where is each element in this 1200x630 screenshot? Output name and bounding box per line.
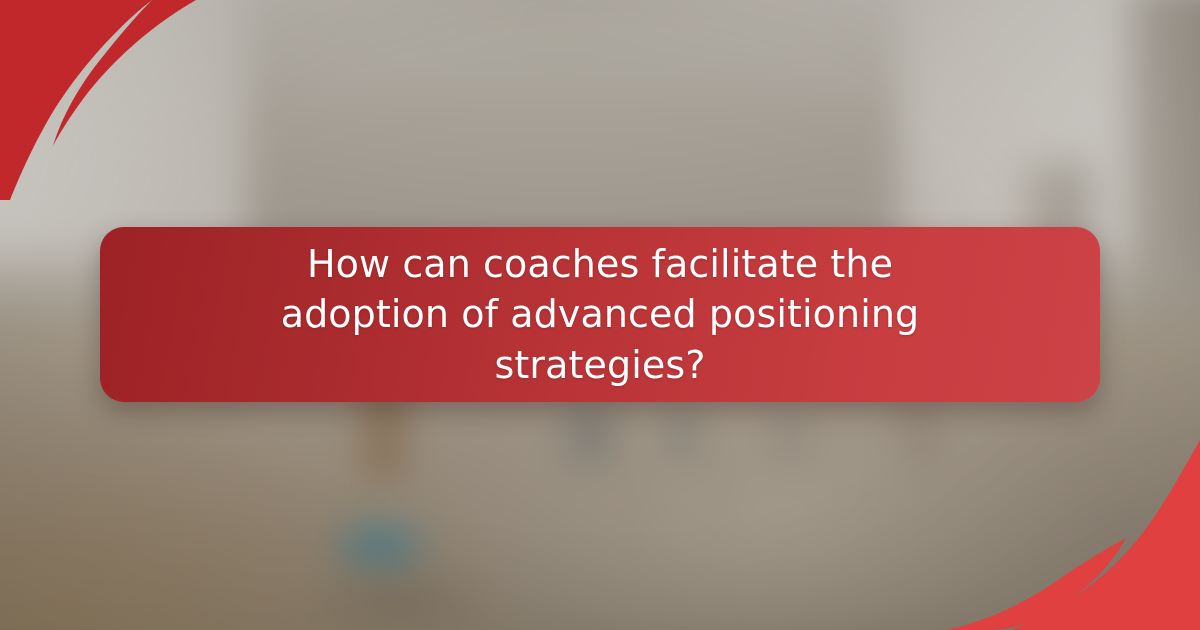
quote-text: How can coaches facilitate the adoption …: [220, 239, 980, 391]
quote-card: How can coaches facilitate the adoption …: [100, 227, 1100, 402]
share-card-canvas: How can coaches facilitate the adoption …: [0, 0, 1200, 630]
